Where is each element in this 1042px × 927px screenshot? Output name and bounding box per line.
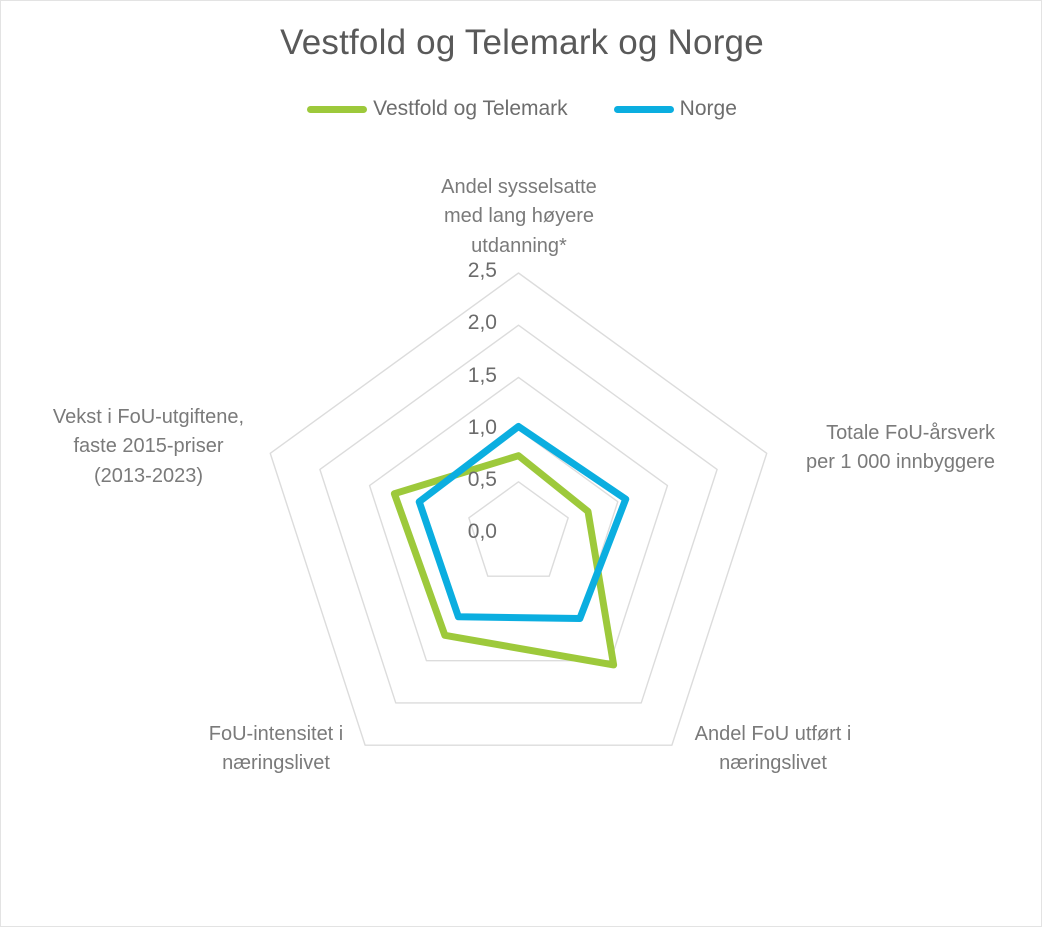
axis-label-top-line3: utdanning* bbox=[394, 232, 644, 261]
axis-label-top: Andel sysselsatte med lang høyere utdann… bbox=[394, 173, 644, 261]
axis-label-bottom-right-line2: næringslivet bbox=[648, 749, 898, 778]
axis-label-right-line2: per 1 000 innbyggere bbox=[695, 448, 995, 477]
axis-label-bottom-right: Andel FoU utført i næringslivet bbox=[648, 720, 898, 779]
tick-label-0-0: 0,0 bbox=[399, 520, 497, 544]
axis-label-left-line2: faste 2015-priser bbox=[16, 432, 281, 461]
axis-label-left-line1: Vekst i FoU-utgiftene, bbox=[16, 403, 281, 432]
axis-label-bottom-left: FoU-intensitet i næringslivet bbox=[161, 720, 391, 779]
tick-label-1-5: 1,5 bbox=[399, 364, 497, 388]
tick-label-1-0: 1,0 bbox=[399, 416, 497, 440]
axis-label-bottom-left-line1: FoU-intensitet i bbox=[161, 720, 391, 749]
axis-label-right: Totale FoU-årsverk per 1 000 innbyggere bbox=[695, 419, 995, 478]
axis-label-left: Vekst i FoU-utgiftene, faste 2015-priser… bbox=[16, 403, 281, 491]
tick-label-2-0: 2,0 bbox=[399, 311, 497, 335]
radar-series-layer bbox=[394, 426, 625, 664]
axis-label-top-line1: Andel sysselsatte bbox=[394, 173, 644, 202]
tick-label-2-5: 2,5 bbox=[399, 259, 497, 283]
axis-label-bottom-right-line1: Andel FoU utført i bbox=[648, 720, 898, 749]
radar-grid-rings bbox=[270, 273, 766, 745]
axis-label-left-line3: (2013-2023) bbox=[16, 462, 281, 491]
axis-label-right-line1: Totale FoU-årsverk bbox=[695, 419, 995, 448]
radar-chart-container: Vestfold og Telemark og Norge Vestfold o… bbox=[0, 0, 1042, 927]
grid-ring-2-5 bbox=[270, 273, 766, 745]
axis-label-top-line2: med lang høyere bbox=[394, 202, 644, 231]
axis-label-bottom-left-line2: næringslivet bbox=[161, 749, 391, 778]
tick-label-0-5: 0,5 bbox=[399, 468, 497, 492]
